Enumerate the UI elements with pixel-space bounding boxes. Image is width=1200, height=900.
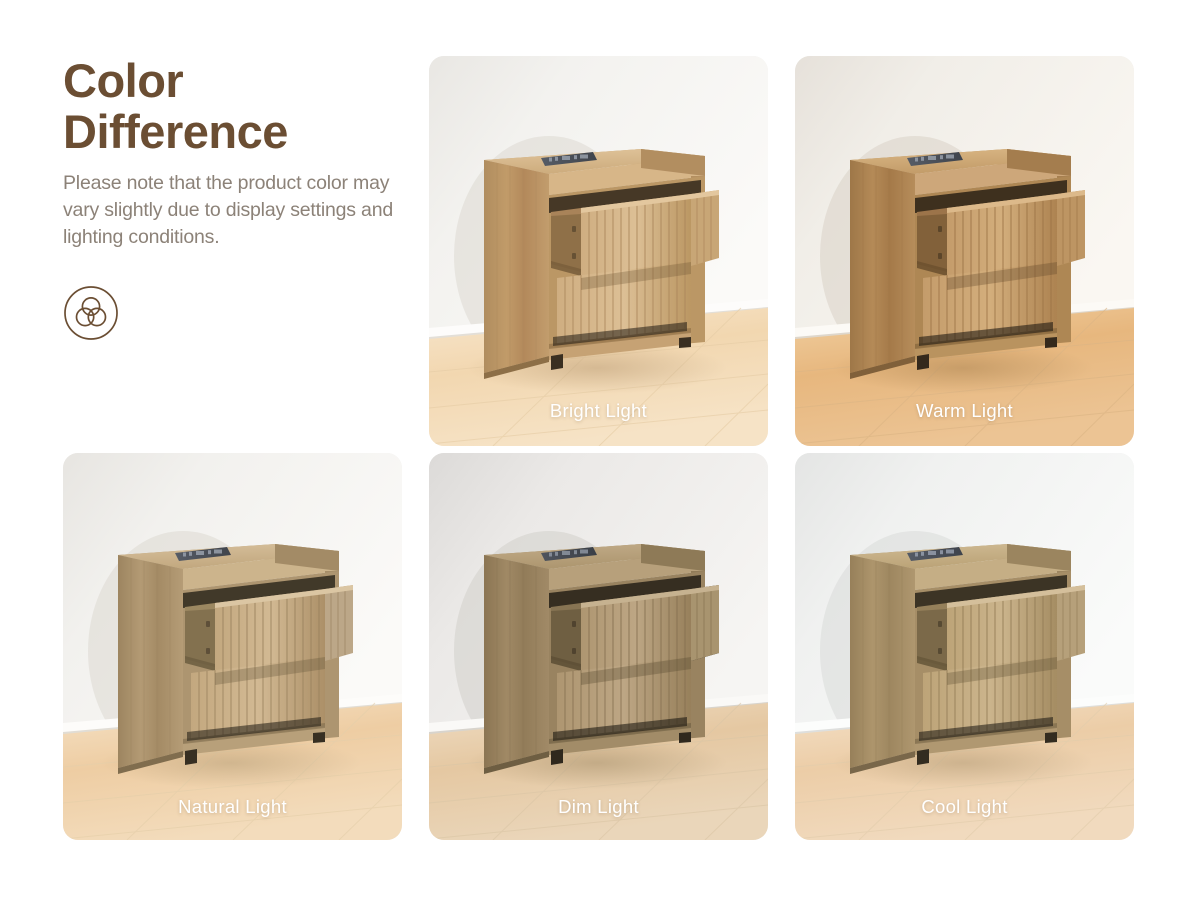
color-difference-page: Color Difference Please note that the pr…: [0, 0, 1200, 900]
product-photo-natural-light: [63, 453, 402, 840]
intro-description: Please note that the product color may v…: [63, 170, 393, 252]
product-photo-warm-light: [795, 56, 1134, 446]
color-wheel-icon: [63, 285, 119, 341]
product-tile-warm-light[interactable]: Warm Light: [795, 56, 1134, 446]
page-title: Color Difference: [63, 56, 403, 158]
product-photo-cool-light: [795, 453, 1134, 840]
product-tile-natural-light[interactable]: Natural Light: [63, 453, 402, 840]
intro-block: Color Difference Please note that the pr…: [63, 56, 403, 341]
product-tile-dim-light[interactable]: Dim Light: [429, 453, 768, 840]
product-photo-bright-light: [429, 56, 768, 446]
drawer-right-return: [325, 585, 353, 661]
product-photo-dim-light: [429, 453, 768, 840]
product-tile-cool-light[interactable]: Cool Light: [795, 453, 1134, 840]
product-tile-bright-light[interactable]: Bright Light: [429, 56, 768, 446]
